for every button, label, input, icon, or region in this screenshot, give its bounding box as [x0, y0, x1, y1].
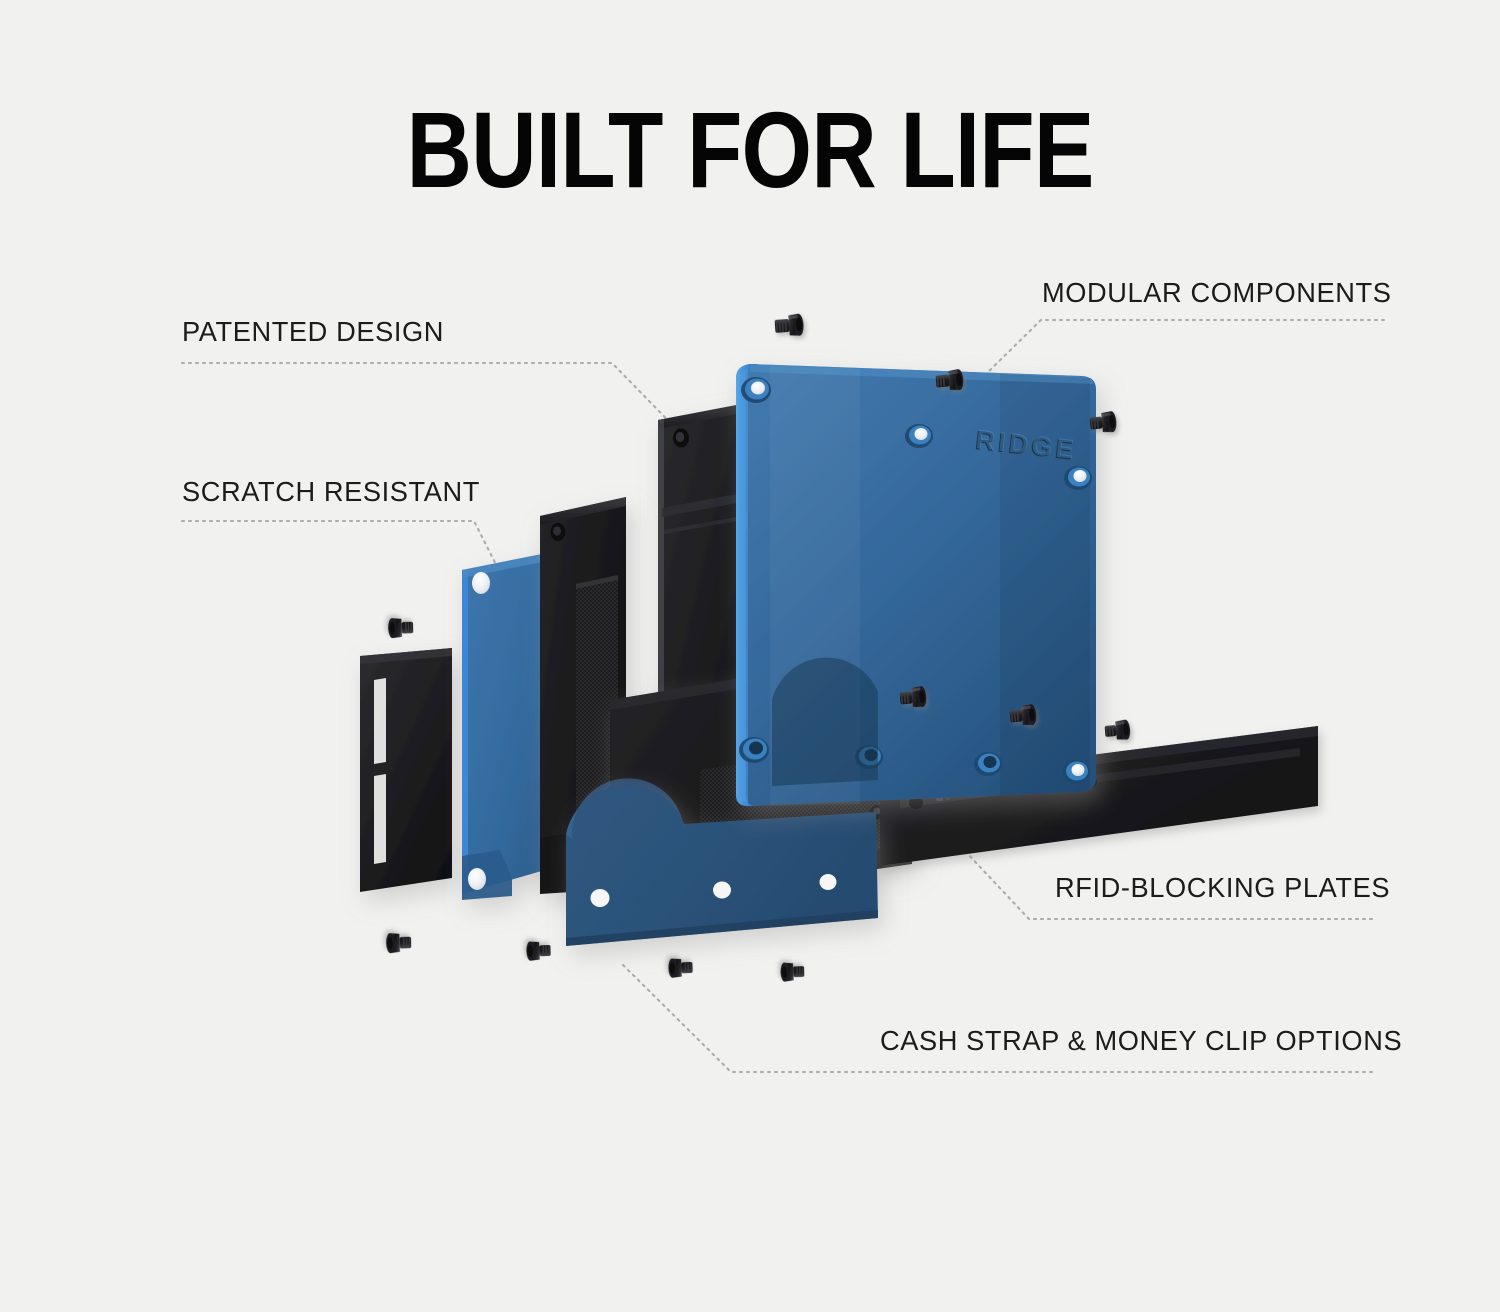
- infographic-canvas: RIDGE RIDGE: [0, 0, 1500, 1312]
- screw: [668, 958, 693, 978]
- screw: [388, 617, 414, 638]
- blue-rfid-plate: [462, 552, 552, 900]
- callout-label-cash-strap-money-clip: CASH STRAP & MONEY CLIP OPTIONS: [880, 1027, 1402, 1055]
- screw: [774, 313, 804, 337]
- callout-label-rfid-blocking-plates: RFID-BLOCKING PLATES: [1055, 874, 1390, 902]
- blue-front-plate: RIDGE RIDGE: [736, 364, 1096, 806]
- screw: [386, 932, 412, 953]
- cash-strap-plate: [360, 648, 452, 892]
- screw: [526, 941, 551, 961]
- screw: [1104, 719, 1131, 741]
- callout-label-modular-components: MODULAR COMPONENTS: [1042, 279, 1392, 307]
- page-title: BUILT FOR LIFE: [120, 96, 1380, 204]
- callout-label-patented-design: PATENTED DESIGN: [182, 318, 444, 346]
- leader-line-patented: [182, 363, 694, 447]
- callout-label-scratch-resistant: SCRATCH RESISTANT: [182, 478, 480, 506]
- screw: [780, 962, 804, 982]
